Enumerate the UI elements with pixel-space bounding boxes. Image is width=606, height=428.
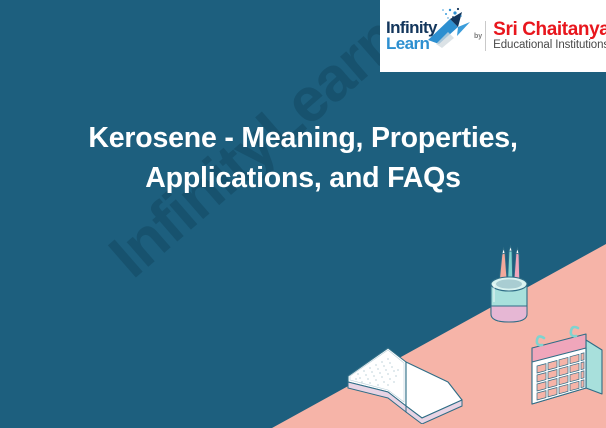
brand-logo-box[interactable]: Infinity Learn by Sri — [380, 0, 606, 72]
desk-calendar-icon — [528, 322, 606, 410]
logo-by-separator: by — [472, 21, 488, 51]
by-label: by — [474, 33, 482, 40]
page-title: Kerosene - Meaning, Properties, Applicat… — [0, 118, 606, 199]
thumbnail-canvas: InfinityLearn.com Infinity Learn — [0, 0, 606, 428]
pencil-holder-icon — [482, 244, 536, 328]
open-book-icon — [344, 332, 468, 424]
infinity-learn-logo: Infinity Learn — [380, 4, 472, 68]
partner-brand-tagline: Educational Institutions — [493, 39, 606, 52]
sri-chaitanya-logo: Sri Chaitanya Educational Institutions — [488, 20, 606, 53]
vertical-divider — [485, 21, 486, 51]
bird-arrow-icon — [424, 6, 472, 54]
partner-brand-name: Sri Chaitanya — [493, 20, 606, 39]
